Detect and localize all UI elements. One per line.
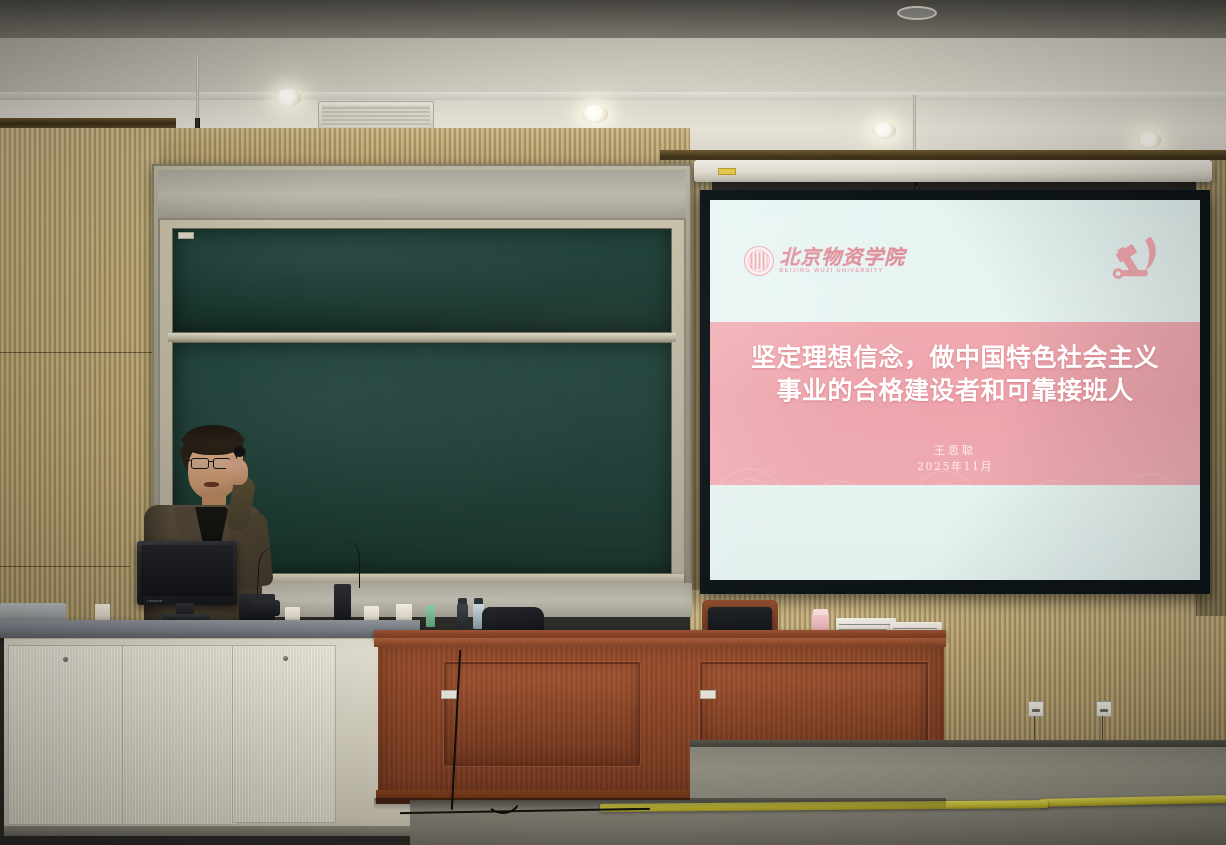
projector-screen-housing[interactable] [694, 160, 1212, 182]
housing-brand-label [718, 168, 736, 175]
slide-presenter-name: 王思聪 [917, 443, 993, 459]
cpc-hammer-sickle-emblem-icon [1108, 234, 1166, 288]
university-seal-icon [744, 246, 774, 276]
podium-door-knob[interactable] [283, 656, 288, 661]
microphone-base [250, 600, 280, 616]
university-name-en: BEIJING WUZI UNIVERSITY [779, 269, 905, 275]
paper-edge [893, 628, 937, 629]
bottle-cap [458, 598, 467, 604]
floor-wall-joint [690, 740, 1226, 747]
ceiling-ring-fixture-icon [897, 6, 937, 20]
projector-screen-canvas[interactable]: 北京物资学院 BEIJING WUZI UNIVERSITY [710, 200, 1200, 580]
podium-base [4, 826, 416, 836]
lecture-hall-photo: 北京物资学院 BEIJING WUZI UNIVERSITY [0, 0, 1226, 845]
monitor-screen [141, 545, 233, 596]
paper-edge [839, 624, 891, 625]
wall-trim [0, 118, 176, 128]
bottle-cap [474, 598, 483, 604]
ceiling-soffit [0, 0, 1226, 42]
slide-header: 北京物资学院 BEIJING WUZI UNIVERSITY [710, 200, 1200, 322]
downlight-icon [582, 105, 608, 123]
wall-power-outlet[interactable] [1028, 701, 1044, 717]
downlight-icon [275, 89, 301, 107]
podium-countertop [0, 620, 420, 638]
desk-name-plate [441, 690, 457, 699]
podium-door-left[interactable] [8, 645, 128, 825]
desk-inset-panel-left [444, 662, 640, 766]
slide-byline: 王思聪 2025年11月 [917, 443, 993, 475]
downlight-icon [1137, 132, 1161, 149]
presenter-glasses-left-lens [191, 458, 209, 469]
presenter-mouth [204, 482, 219, 487]
air-vent-icon [318, 101, 434, 131]
outlet-cable [1034, 716, 1042, 744]
university-logo: 北京物资学院 BEIJING WUZI UNIVERSITY [744, 246, 905, 276]
microphone-boom [257, 544, 318, 599]
university-name-cn: 北京物资学院 [779, 247, 905, 267]
blackboard-divider-rail [168, 333, 676, 342]
slide-title-band: 坚定理想信念，做中国特色社会主义 事业的合格建设者和可靠接班人 王思聪 2025… [710, 322, 1200, 485]
podium-door-knob[interactable] [63, 657, 68, 662]
university-wordmark: 北京物资学院 BEIJING WUZI UNIVERSITY [779, 247, 905, 275]
downlight-icon [872, 122, 896, 139]
blackboard-header-wall [158, 170, 686, 220]
slide-footer-area [710, 485, 1200, 580]
slide-title-line-2: 事业的合格建设者和可靠接班人 [720, 374, 1190, 407]
presenter-clicker [234, 446, 245, 457]
slide-date: 2025年11月 [917, 459, 993, 475]
presentation-slide: 北京物资学院 BEIJING WUZI UNIVERSITY [710, 200, 1200, 580]
ceiling-hanger-rod [913, 95, 916, 153]
blackboard-label-tag [178, 232, 194, 239]
desk-name-plate [700, 690, 716, 699]
thermos-lid [813, 609, 828, 615]
small-green-bottle [426, 605, 435, 627]
wall-power-outlet[interactable] [1096, 701, 1112, 717]
outlet-cable [1102, 716, 1114, 744]
blackboard-panel-upper [172, 228, 672, 333]
podium-door-right[interactable] [232, 645, 336, 823]
av-control-device[interactable] [334, 584, 351, 622]
wall-seam [0, 352, 160, 353]
podium-door-center[interactable] [122, 645, 238, 825]
ceiling-hanger-rod [196, 55, 199, 123]
wall-seam [0, 566, 130, 567]
desk-shadow [374, 798, 946, 810]
water-bottle [457, 603, 468, 629]
slide-title-line-1: 坚定理想信念，做中国特色社会主义 [720, 341, 1190, 374]
microphone-boom [326, 540, 360, 588]
computer-monitor: Lenovo [137, 541, 237, 605]
presenter-glasses-bridge [208, 461, 214, 462]
monitor-brand-logo: Lenovo [147, 598, 163, 603]
